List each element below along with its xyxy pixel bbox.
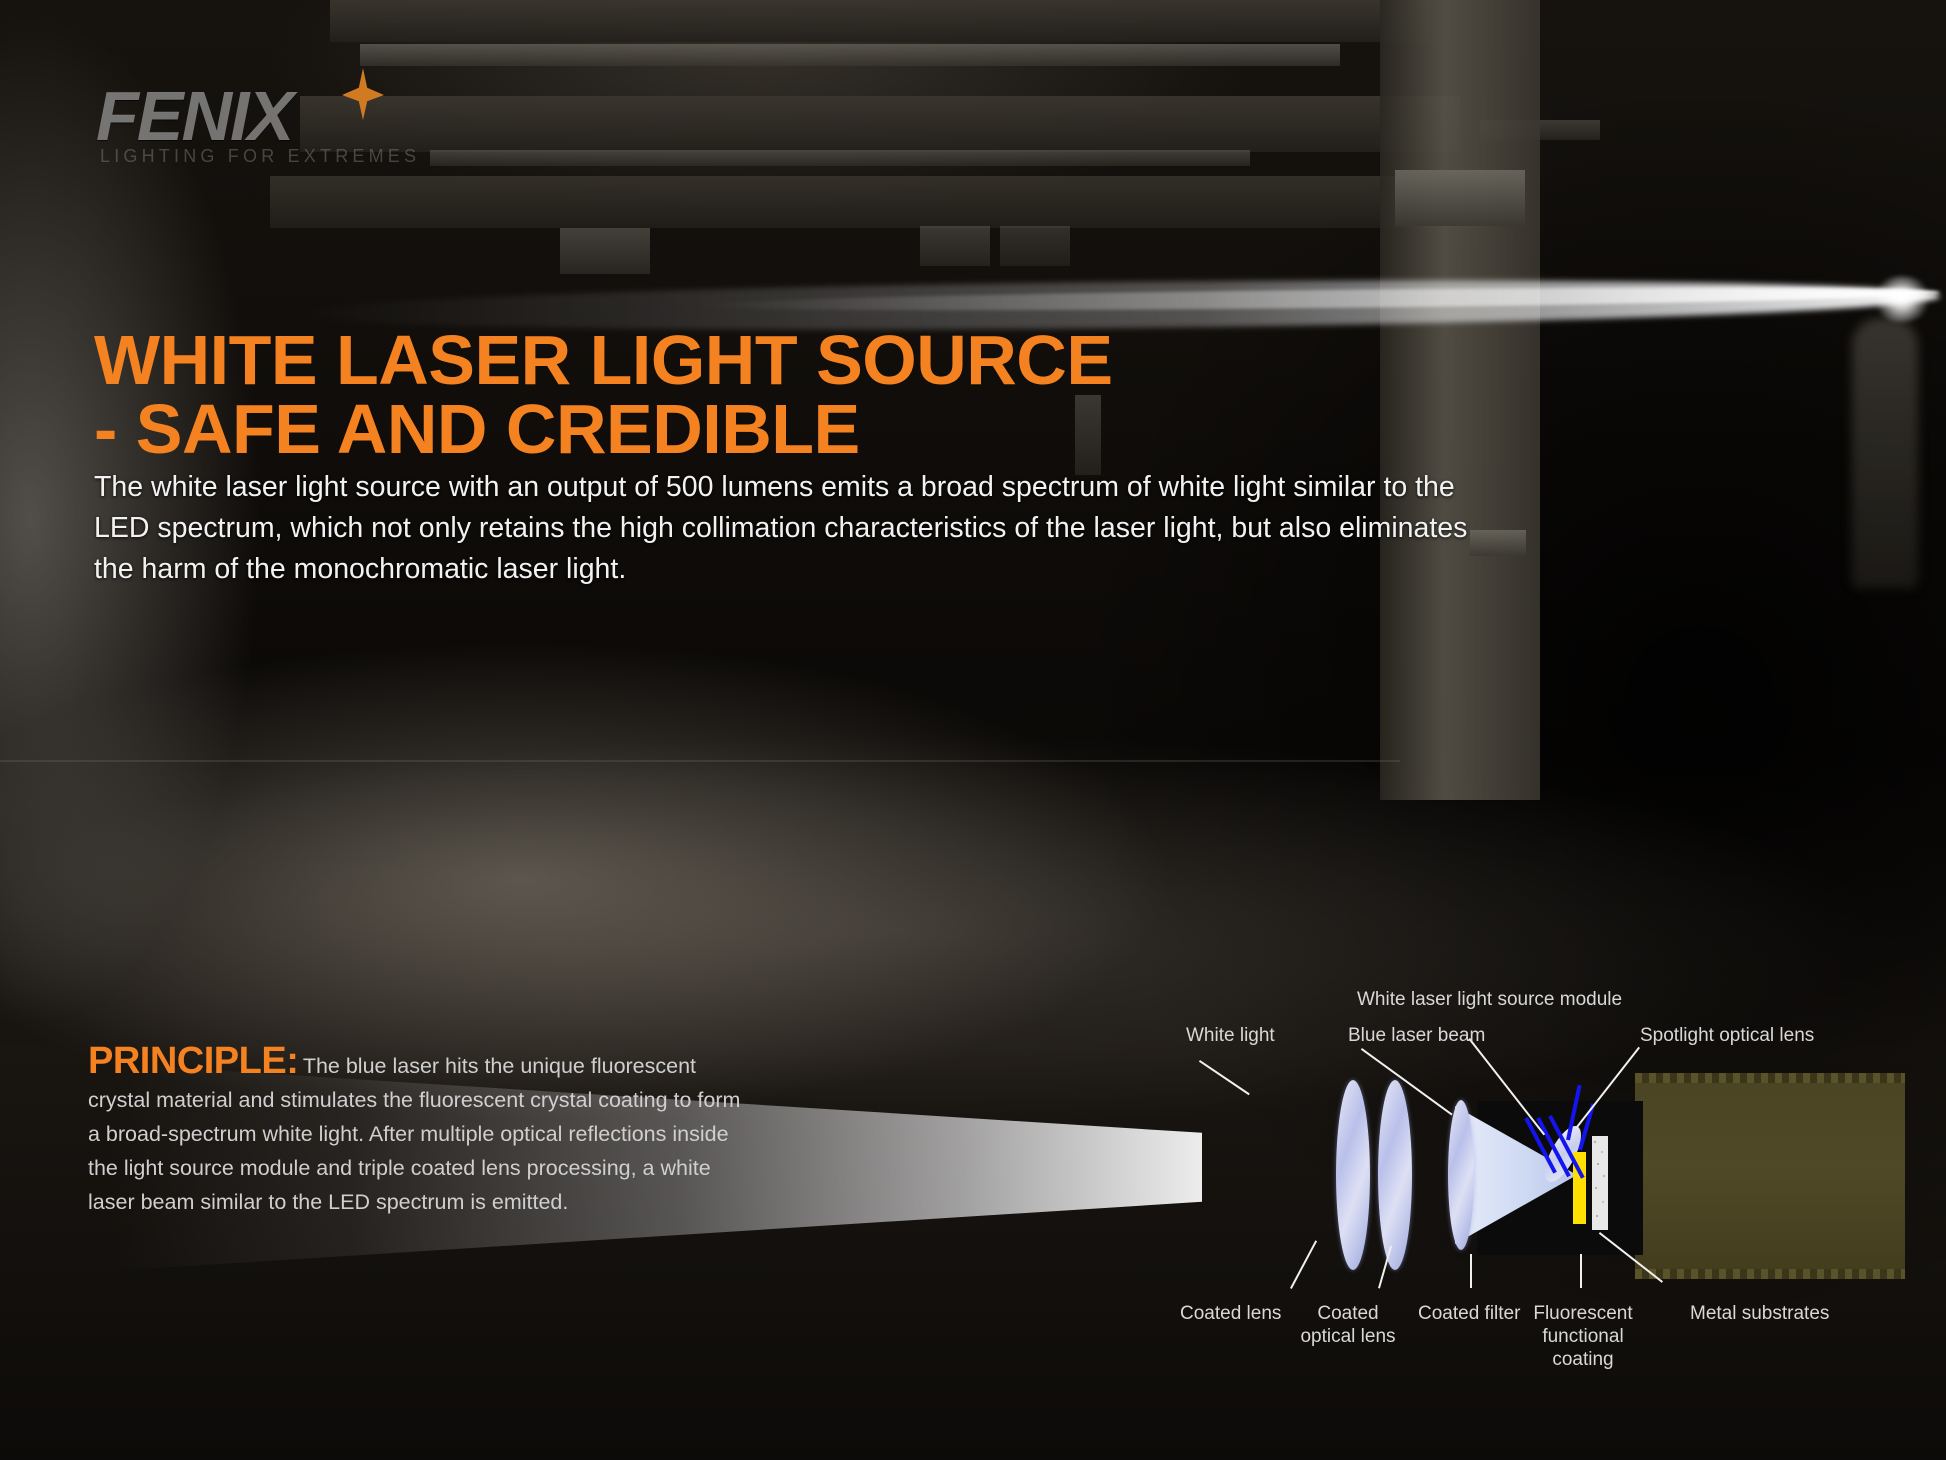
page-title: WHITE LASER LIGHT SOURCE - SAFE AND CRED…: [94, 326, 1394, 463]
label-fluorescent-line2: functional: [1498, 1326, 1668, 1349]
ceiling-beam: [270, 176, 1490, 228]
headline-line-2: - SAFE AND CREDIBLE: [94, 395, 1394, 464]
flashlight-knurl-bottom: [1635, 1269, 1905, 1279]
principle-kicker: PRINCIPLE:: [88, 1040, 298, 1082]
ceiling-panel: [560, 228, 650, 274]
label-fluorescent-line3: coating: [1498, 1349, 1668, 1372]
slide-canvas: FENIX LIGHTING FOR EXTREMES WHITE LASER …: [0, 0, 1946, 1460]
coated-lens-shape: [1336, 1080, 1370, 1270]
ceiling-beam: [330, 0, 1430, 42]
label-white-light: White light: [1186, 1025, 1275, 1048]
fenix-logo: FENIX LIGHTING FOR EXTREMES: [96, 62, 436, 172]
metal-substrate-shape: [1592, 1136, 1608, 1230]
ceiling-beam: [300, 96, 1460, 152]
flashlight-body: Fenix TK30: [1635, 1073, 1905, 1279]
ceiling-panel: [920, 226, 990, 266]
beam-hotspot: [1872, 276, 1932, 322]
pillar-box: [1395, 170, 1525, 226]
label-coated-optical-lens-line2: optical lens: [1288, 1326, 1408, 1349]
logo-tagline: LIGHTING FOR EXTREMES: [100, 146, 420, 167]
star-icon: [342, 68, 384, 120]
leader-line-coated-filter: [1470, 1254, 1472, 1288]
ceiling-slab: [430, 150, 1250, 166]
ceiling-slab: [360, 44, 1340, 66]
floor-line: [0, 760, 1400, 762]
concrete-pillar: [1380, 0, 1540, 800]
silhouette-person: [1852, 318, 1918, 588]
headline-line-1: WHITE LASER LIGHT SOURCE: [94, 321, 1113, 399]
label-coated-lens: Coated lens: [1180, 1303, 1281, 1326]
coated-filter-shape: [1448, 1100, 1474, 1250]
principle-block: PRINCIPLE: The blue laser hits the uniqu…: [88, 1040, 748, 1220]
flashlight-knurl-top: [1635, 1073, 1905, 1083]
label-coated-optical-lens: Coated optical lens: [1288, 1303, 1408, 1349]
label-blue-laser-beam: Blue laser beam: [1348, 1025, 1485, 1048]
label-white-laser-light-source-module: White laser light source module: [1357, 989, 1622, 1012]
label-metal-substrates: Metal substrates: [1690, 1303, 1829, 1326]
ceiling-panel: [1000, 226, 1070, 266]
label-fluorescent-functional-coating: Fluorescent functional coating: [1498, 1303, 1668, 1371]
label-coated-optical-lens-line1: Coated: [1288, 1303, 1408, 1326]
lede-paragraph: The white laser light source with an out…: [94, 467, 1484, 590]
logo-wordmark: FENIX: [96, 76, 292, 156]
label-fluorescent-line1: Fluorescent: [1498, 1303, 1668, 1326]
leader-line-fluorescent-coating: [1580, 1254, 1582, 1288]
label-spotlight-optical-lens: Spotlight optical lens: [1640, 1025, 1814, 1048]
coated-optical-lens-shape: [1378, 1080, 1412, 1270]
